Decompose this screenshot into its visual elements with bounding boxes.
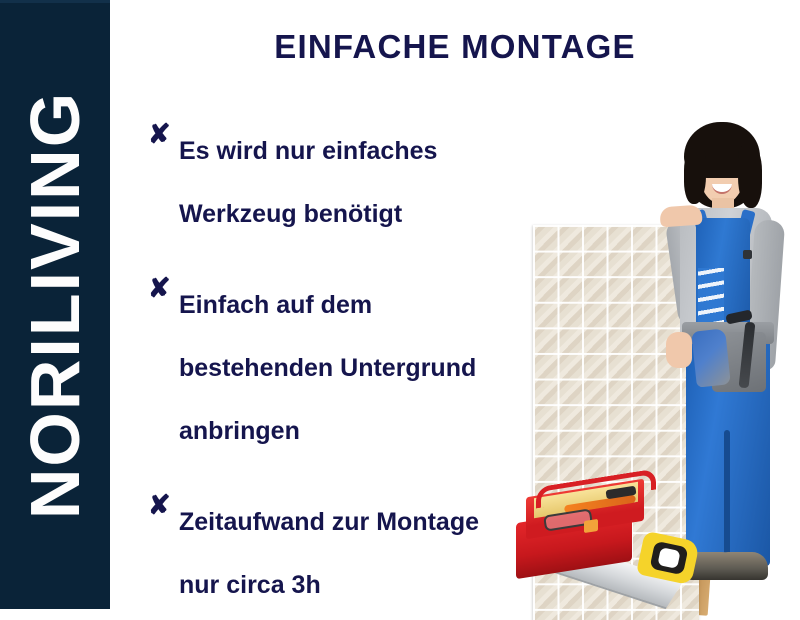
cross-icon: ✘	[148, 272, 171, 304]
list-item-line: Werkzeug benötigt	[179, 183, 548, 246]
toolbox-latch	[584, 519, 598, 533]
list-item-line: Es wird nur einfaches	[179, 120, 548, 183]
feature-list: ✘ Es wird nur einfaches Werkzeug benötig…	[148, 120, 548, 620]
brand-name: NORILIVING	[20, 90, 90, 518]
list-item-text: Einfach auf dem bestehenden Untergrund a…	[148, 274, 548, 463]
hand-on-panel	[659, 205, 702, 228]
page-title: EINFACHE MONTAGE	[130, 28, 780, 66]
work-glove	[691, 328, 731, 387]
list-item-text: Zeitaufwand zur Montage nur circa 3h	[148, 491, 548, 617]
thumb-up-hand	[666, 332, 692, 368]
cross-icon: ✘	[148, 489, 171, 521]
list-item-line: nur circa 3h	[179, 554, 548, 617]
list-item: ✘ Zeitaufwand zur Montage nur circa 3h	[148, 491, 548, 617]
boot-right	[716, 552, 768, 580]
brand-sidebar: NORILIVING	[0, 0, 110, 609]
shirt-stripes	[698, 268, 724, 324]
list-item-line: bestehenden Untergrund	[179, 337, 548, 400]
list-item-text: Es wird nur einfaches Werkzeug benötigt	[148, 120, 548, 246]
list-item-line: anbringen	[179, 400, 548, 463]
hair-side-right	[738, 146, 762, 208]
slide-canvas: NORILIVING EINFACHE MONTAGE ✘ Es wird nu…	[0, 0, 800, 620]
list-item-line: Einfach auf dem	[179, 274, 548, 337]
trouser-seam	[724, 430, 730, 570]
list-item: ✘ Es wird nur einfaches Werkzeug benötig…	[148, 120, 548, 246]
hair-side-left	[684, 148, 706, 204]
overall-buckle	[743, 250, 752, 259]
cross-icon: ✘	[148, 118, 171, 150]
list-item-line: Zeitaufwand zur Montage	[179, 491, 548, 554]
list-item: ✘ Einfach auf dem bestehenden Untergrund…	[148, 274, 548, 463]
